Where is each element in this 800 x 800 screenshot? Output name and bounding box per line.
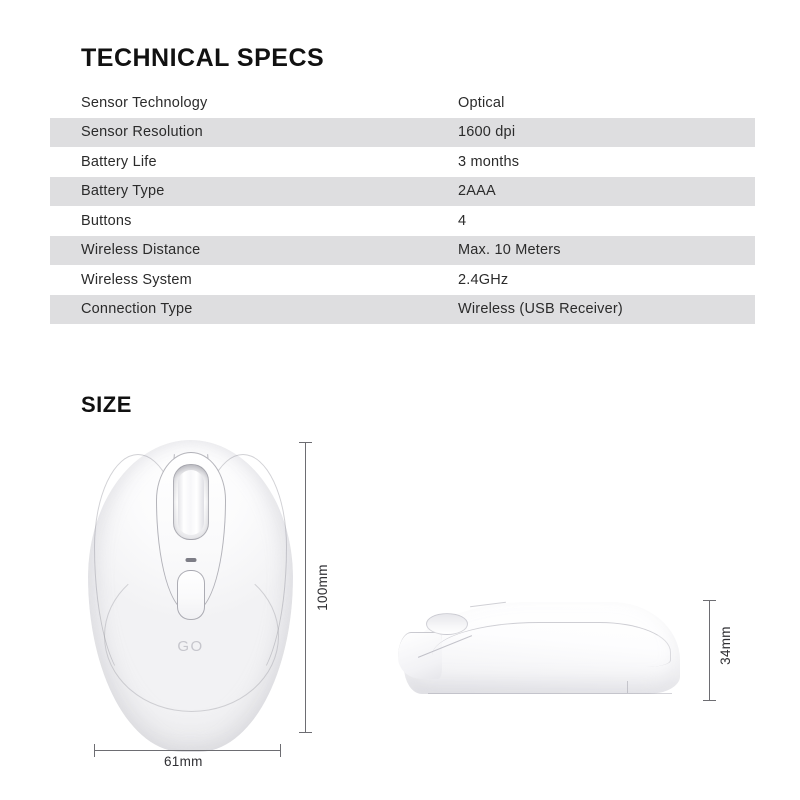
spec-value: 2.4GHz [458, 272, 508, 288]
spec-label: Battery Type [81, 183, 165, 199]
spec-label: Battery Life [81, 154, 157, 170]
width-dimension-line [94, 750, 280, 751]
spec-value: 3 months [458, 154, 519, 170]
mouse-side-view-image [398, 592, 686, 702]
table-row: Buttons 4 [50, 206, 755, 236]
table-row: Battery Life 3 months [50, 147, 755, 177]
table-row: Wireless Distance Max. 10 Meters [50, 236, 755, 266]
width-dimension-cap-left [94, 744, 95, 757]
table-row: Wireless System 2.4GHz [50, 265, 755, 295]
height-dimension-line [305, 442, 306, 732]
page-title: TECHNICAL SPECS [81, 44, 324, 73]
brand-logo: GO [177, 638, 203, 655]
spec-label: Sensor Resolution [81, 124, 203, 140]
thickness-dimension-cap-top [703, 600, 716, 601]
table-row: Sensor Resolution 1600 dpi [50, 118, 755, 148]
spec-table: Sensor Technology Optical Sensor Resolut… [50, 88, 755, 324]
thickness-dimension-label: 34mm [716, 623, 735, 668]
mouse-palm-seam [104, 560, 279, 712]
spec-value: 1600 dpi [458, 124, 515, 140]
width-dimension-label: 61mm [161, 752, 206, 771]
spec-label: Wireless System [81, 272, 192, 288]
spec-label: Sensor Technology [81, 95, 207, 111]
height-dimension-cap-top [299, 442, 312, 443]
spec-value: 2AAA [458, 183, 496, 199]
size-section-title: SIZE [81, 392, 132, 418]
spec-value: Max. 10 Meters [458, 242, 561, 258]
table-row: Sensor Technology Optical [50, 88, 755, 118]
scroll-wheel-icon [178, 470, 204, 535]
height-dimension-cap-bottom [299, 732, 312, 733]
scroll-wheel-well [173, 464, 209, 540]
height-dimension-label: 100mm [313, 561, 332, 614]
thickness-dimension-line [709, 600, 710, 700]
width-dimension-cap-right [280, 744, 281, 757]
spec-label: Buttons [81, 213, 132, 229]
mouse-side-base-seam [428, 693, 672, 694]
spec-value: Optical [458, 95, 505, 111]
spec-label: Connection Type [81, 301, 193, 317]
mouse-side-rear-seam [627, 681, 628, 693]
spec-label: Wireless Distance [81, 242, 200, 258]
table-row: Connection Type Wireless (USB Receiver) [50, 295, 755, 325]
spec-value: Wireless (USB Receiver) [458, 301, 623, 317]
table-row: Battery Type 2AAA [50, 177, 755, 207]
mouse-top-view-image: GO [88, 440, 293, 752]
thickness-dimension-cap-bottom [703, 700, 716, 701]
spec-value: 4 [458, 213, 466, 229]
size-section: GO 100mm 61mm 34mm [0, 420, 800, 800]
